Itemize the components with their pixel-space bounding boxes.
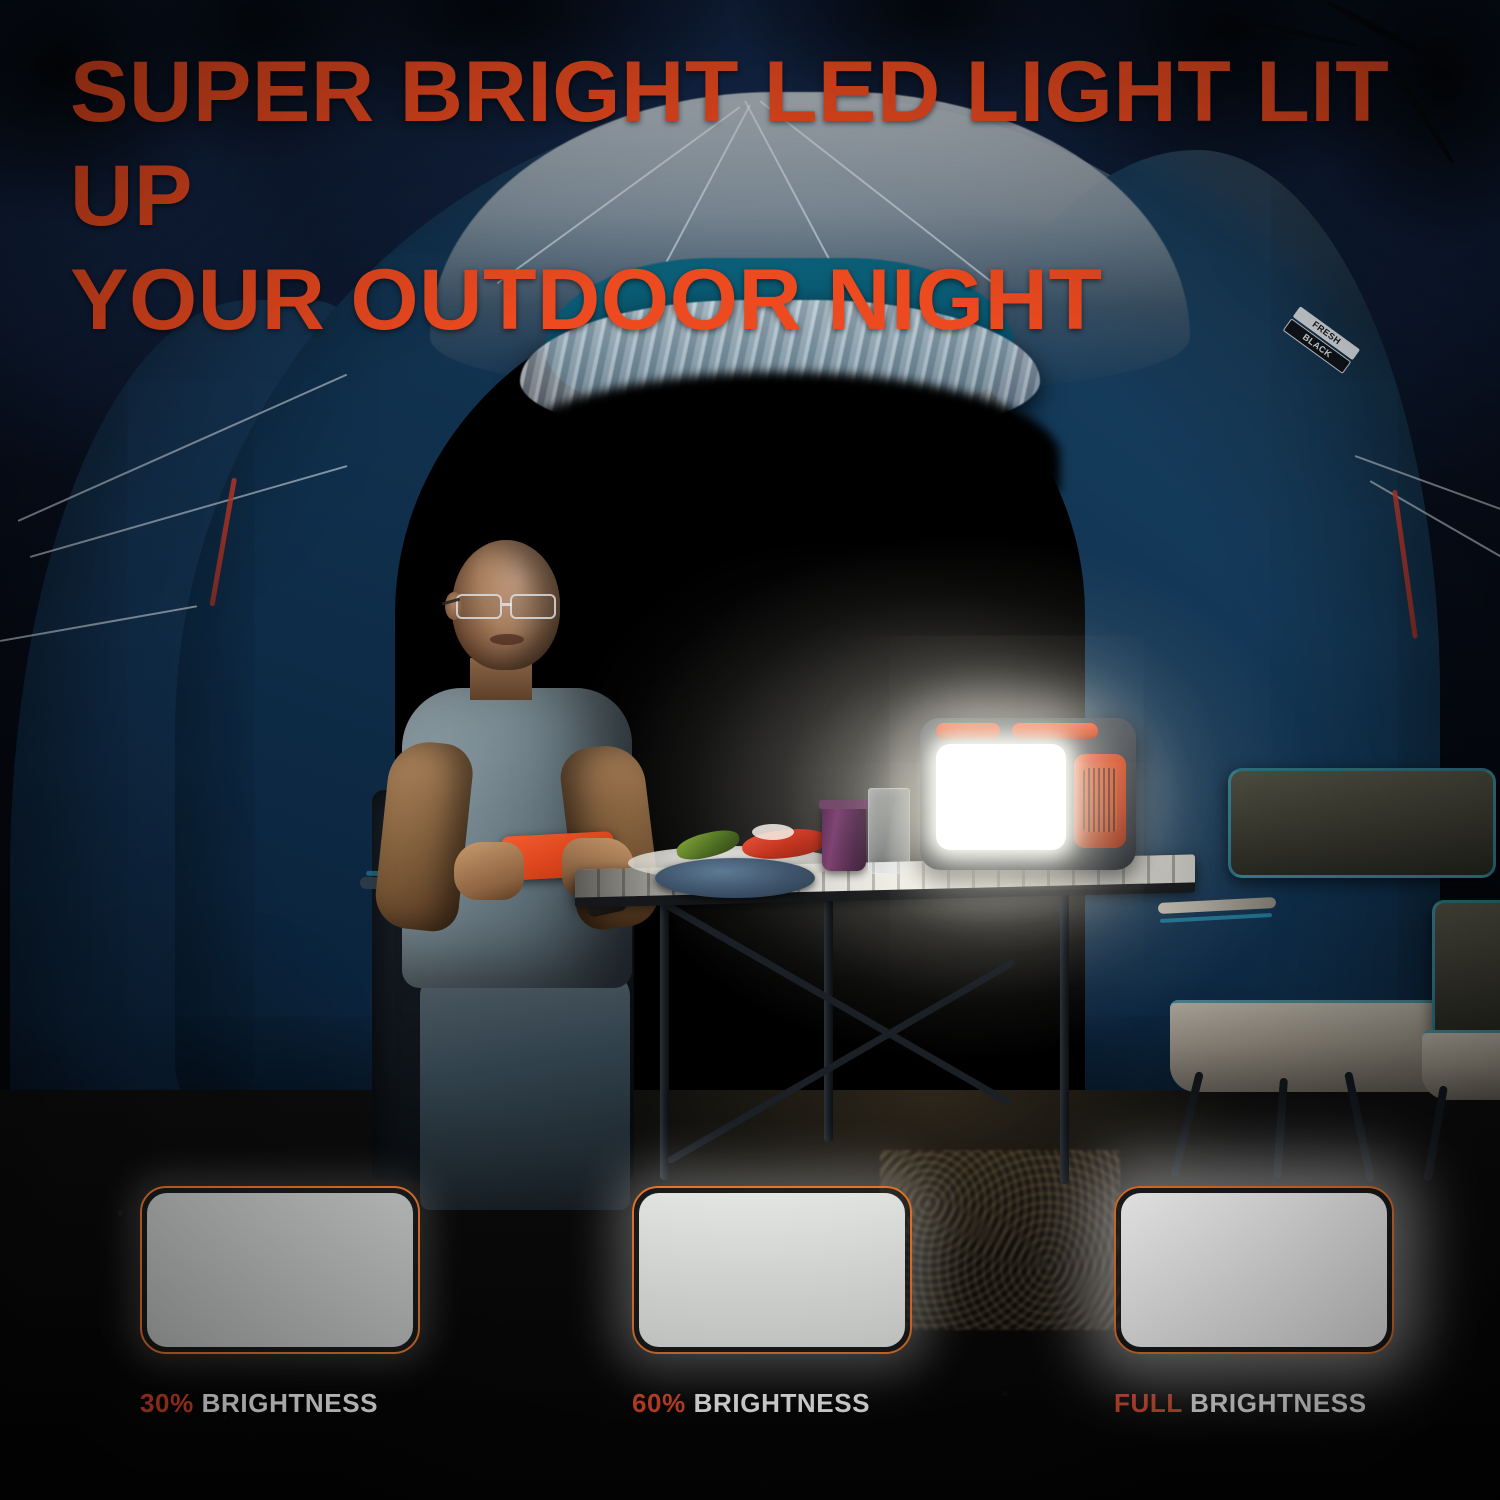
table-leg — [1060, 888, 1069, 1184]
brightness-swatch-fill-30 — [147, 1193, 413, 1347]
chair-backrest — [1432, 900, 1500, 1040]
brightness-swatch-60 — [632, 1186, 912, 1354]
drink-cup-lid — [819, 800, 869, 809]
brightness-level-full: FULL — [1114, 1388, 1182, 1418]
eyeglasses-icon — [442, 594, 570, 620]
table-leg — [660, 890, 669, 1180]
brightness-item-30: 30% BRIGHTNESS — [140, 1186, 420, 1419]
brightness-label-60: 60% BRIGHTNESS — [632, 1388, 912, 1419]
eyeglass-lens-right — [510, 594, 556, 619]
onion-slice — [752, 824, 794, 840]
brightness-suffix-30: BRIGHTNESS — [194, 1388, 378, 1418]
brightness-suffix-full: BRIGHTNESS — [1182, 1388, 1366, 1418]
brightness-swatch-fill-full — [1121, 1193, 1387, 1347]
brightness-comparison-row: 30% BRIGHTNESS 60% BRIGHTNESS FULL BRIGH… — [0, 1186, 1500, 1486]
person-hand-left — [454, 842, 524, 900]
product-banner: FRESH BLACK — [0, 0, 1500, 1500]
brightness-swatch-30 — [140, 1186, 420, 1354]
brightness-label-30: 30% BRIGHTNESS — [140, 1388, 420, 1419]
brightness-swatch-full — [1114, 1186, 1394, 1354]
page-title: SUPER BRIGHT LED LIGHT LIT UP YOUR OUTDO… — [70, 40, 1498, 352]
eyeglass-lens-left — [456, 594, 502, 619]
brightness-label-full: FULL BRIGHTNESS — [1114, 1388, 1394, 1419]
brightness-level-60: 60% — [632, 1388, 686, 1418]
chair-seat — [1422, 1030, 1500, 1100]
table-leg — [824, 892, 833, 1142]
brightness-item-60: 60% BRIGHTNESS — [632, 1186, 912, 1419]
brightness-item-full: FULL BRIGHTNESS — [1114, 1186, 1394, 1419]
drink-cup — [822, 805, 866, 871]
led-lantern-product — [920, 718, 1136, 870]
lantern-led-panel — [936, 744, 1066, 850]
person-seated — [350, 520, 680, 1180]
blue-plate — [655, 858, 815, 898]
lantern-top-accent-right — [1012, 723, 1098, 739]
person-mouth — [490, 634, 524, 645]
person-legs — [420, 970, 630, 1210]
brightness-swatch-fill-60 — [639, 1193, 905, 1347]
brightness-suffix-60: BRIGHTNESS — [686, 1388, 870, 1418]
eyeglass-bridge — [502, 603, 512, 606]
chair-backrest — [1228, 768, 1496, 878]
brightness-level-30: 30% — [140, 1388, 194, 1418]
lantern-top-accent-left — [936, 723, 1000, 739]
lantern-vent-grille — [1083, 768, 1117, 832]
water-glass — [868, 788, 910, 874]
